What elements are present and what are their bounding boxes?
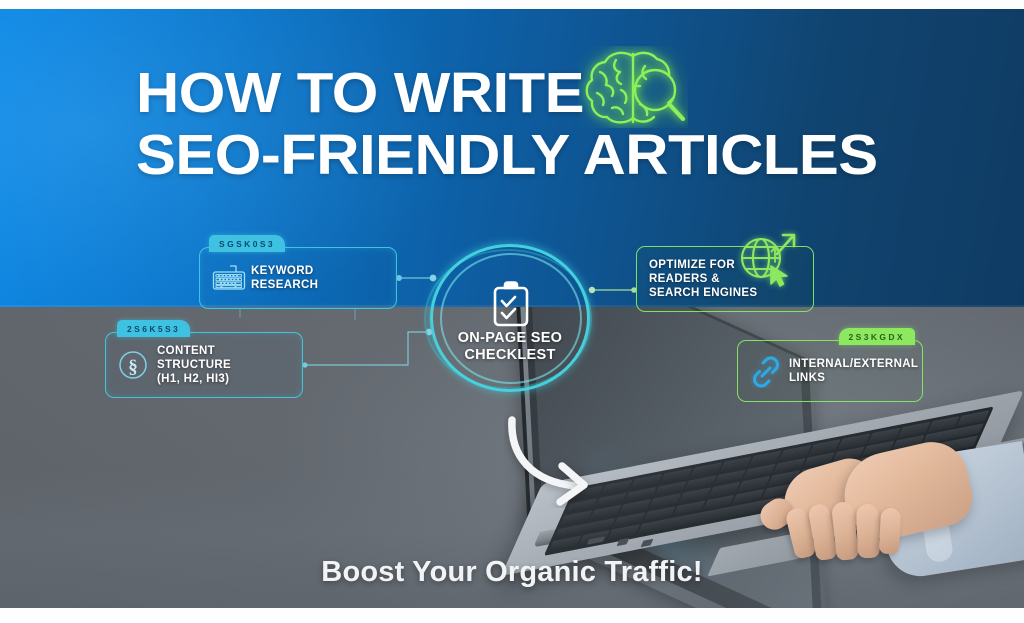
section-sign-icon: §	[118, 350, 148, 380]
center-node-on-page-seo-checklist: ON-PAGE SEO CHECKLEST	[424, 244, 596, 392]
curved-white-arrow	[504, 412, 616, 508]
page-title: HOW TO WRITE SEO-FRIENDLY ARTICLES	[136, 62, 842, 186]
brain-magnifier-icon	[578, 46, 688, 128]
infographic-canvas: HOW TO WRITE SEO-FRIENDLY ARTICLES	[0, 0, 1024, 623]
card-internal-external-links[interactable]: INTERNAL/EXTERNAL LINKS 2S3KGDX	[737, 340, 923, 402]
label-line-1: CONTENT STRUCTURE	[157, 344, 290, 372]
card-keyword-research[interactable]: KEYWORD RESEARCH SGSK0S3	[199, 247, 397, 309]
title-line-1: HOW TO WRITE	[136, 62, 878, 124]
bottom-bleed-strip	[0, 608, 1024, 623]
card-links-tab: 2S3KGDX	[839, 328, 915, 345]
card-body: KEYWORD RESEARCH	[199, 247, 397, 309]
label-line-2: RESEARCH	[251, 278, 318, 292]
clipboard-checklist-icon	[490, 280, 532, 328]
center-node-label-line-1: ON-PAGE SEO	[424, 330, 596, 347]
label-line-1: INTERNAL/EXTERNAL	[789, 357, 918, 371]
chain-link-icon	[750, 356, 780, 386]
title-line-2: SEO-FRIENDLY ARTICLES	[136, 124, 878, 186]
center-node-label-line-2: CHECKLEST	[424, 347, 596, 364]
label-line-2: LINKS	[789, 371, 918, 385]
top-bleed-strip	[0, 0, 1024, 9]
center-node-label: ON-PAGE SEO CHECKLEST	[424, 330, 596, 364]
tagline: Boost Your Organic Traffic!	[0, 556, 1024, 589]
label-line-1: KEYWORD	[251, 264, 318, 278]
keyboard-icon	[212, 263, 242, 293]
card-body: INTERNAL/EXTERNAL LINKS	[737, 340, 923, 402]
card-links-label: INTERNAL/EXTERNAL LINKS	[789, 357, 918, 385]
globe-arrow-cursor-icon	[731, 228, 805, 294]
card-body: § CONTENT STRUCTURE (H1, H2, HI3)	[105, 332, 303, 398]
svg-text:§: §	[128, 357, 138, 378]
card-content-structure-tab: 2S6K5S3	[117, 320, 190, 337]
card-content-structure[interactable]: § CONTENT STRUCTURE (H1, H2, HI3) 2S6K5S…	[105, 332, 303, 398]
card-content-structure-label: CONTENT STRUCTURE (H1, H2, HI3)	[157, 344, 290, 386]
card-keyword-research-label: KEYWORD RESEARCH	[251, 264, 318, 292]
card-keyword-research-tab: SGSK0S3	[209, 235, 285, 252]
label-line-2: (H1, H2, HI3)	[157, 372, 290, 386]
